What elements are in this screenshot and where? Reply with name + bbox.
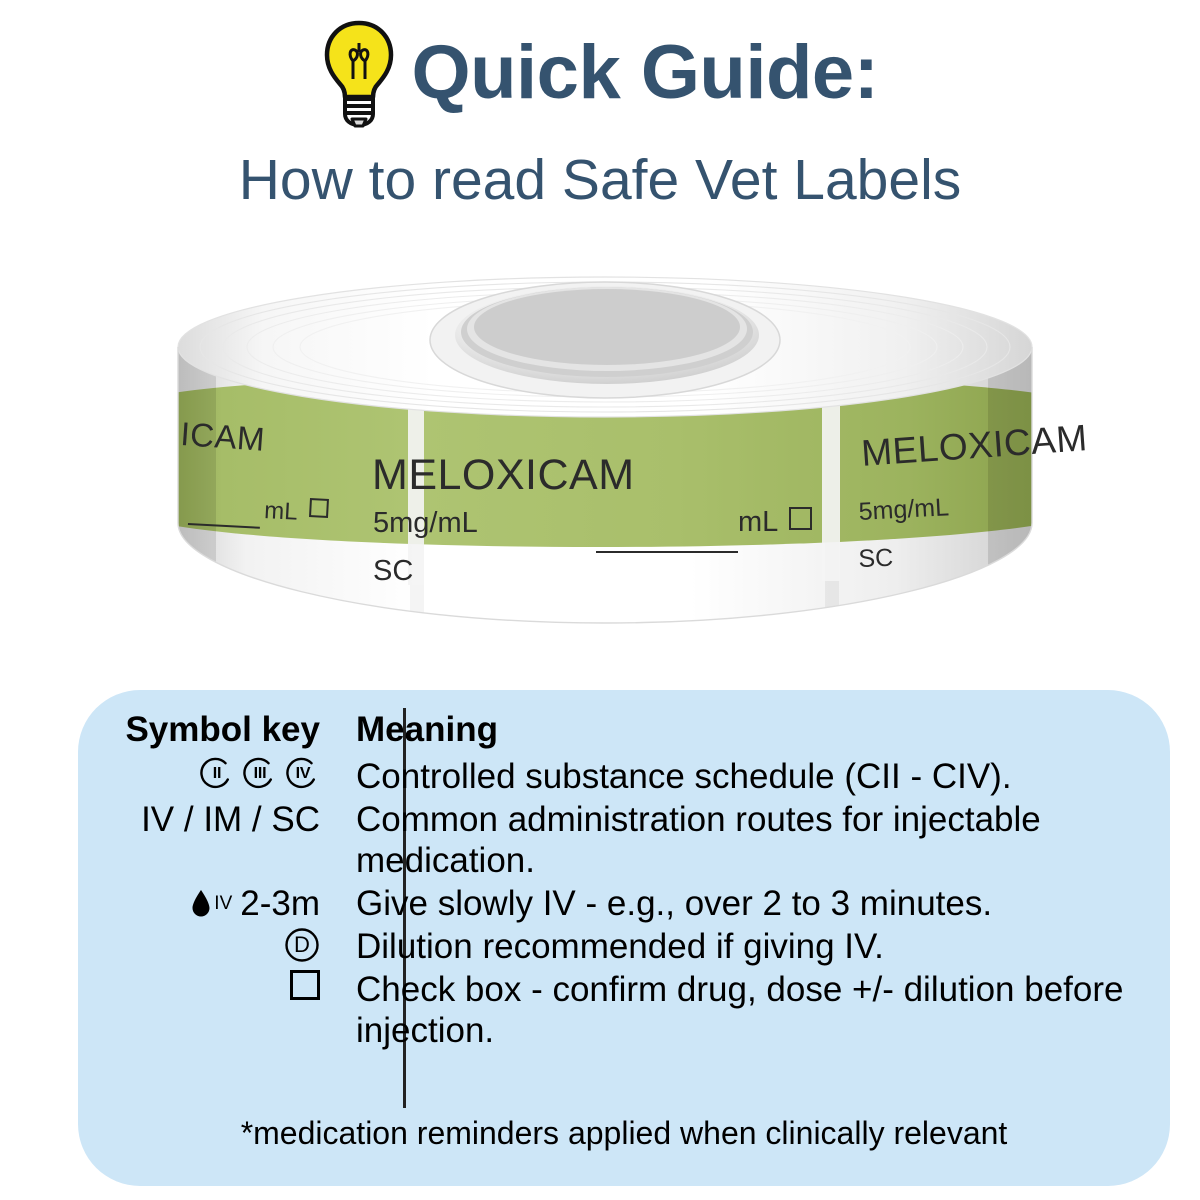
droplet-icon bbox=[191, 889, 211, 917]
meaning-text: Controlled substance schedule (CII - CIV… bbox=[336, 757, 1150, 798]
label-checkbox-left bbox=[309, 498, 329, 518]
meaning-text: Give slowly IV - e.g., over 2 to 3 minut… bbox=[336, 884, 1150, 925]
quick-guide-infographic: Quick Guide: How to read Safe Vet Labels bbox=[0, 0, 1200, 1200]
label-volume-unit: mL bbox=[738, 506, 778, 539]
header: Quick Guide: How to read Safe Vet Labels bbox=[0, 14, 1200, 209]
checkbox-symbol-cell bbox=[98, 970, 336, 1000]
meaning-text: Dilution recommended if giving IV. bbox=[336, 927, 1150, 968]
droplet-route-label: IV bbox=[214, 894, 232, 913]
table-row: D Dilution recommended if giving IV. bbox=[98, 927, 1150, 968]
meaning-text: Check box - confirm drug, dose +/- dilut… bbox=[336, 970, 1150, 1052]
footnote-text: *medication reminders applied when clini… bbox=[78, 1114, 1170, 1152]
schedule-c3-label: III bbox=[254, 766, 267, 782]
meaning-text: Common administration routes for injecta… bbox=[336, 800, 1150, 882]
page-title: Quick Guide: bbox=[412, 35, 879, 111]
label-roll-photo: MELOXICAM 5mg/mL SC mL MELOXICAM 5mg/mL … bbox=[170, 255, 1040, 655]
schedule-symbols-cell: II III IV bbox=[98, 757, 336, 791]
title-row: Quick Guide: bbox=[0, 14, 1200, 132]
droplet-time-label: 2-3m bbox=[240, 886, 320, 921]
symbol-key-table: Symbol key Meaning II bbox=[98, 710, 1150, 1052]
schedule-c3-icon: III bbox=[243, 757, 277, 791]
table-row: IV 2-3m Give slowly IV - e.g., over 2 to… bbox=[98, 884, 1150, 925]
label-concentration-right: 5mg/mL bbox=[858, 493, 950, 527]
symbol-key-header: Symbol key bbox=[98, 710, 336, 750]
label-route: SC bbox=[373, 555, 413, 588]
checkbox-icon bbox=[290, 970, 320, 1000]
schedule-c2-icon: II bbox=[200, 757, 234, 791]
table-row: II III IV bbox=[98, 757, 1150, 798]
label-checkbox bbox=[789, 507, 812, 530]
schedule-symbol-group: II III IV bbox=[200, 757, 320, 791]
table-row: Check box - confirm drug, dose +/- dilut… bbox=[98, 970, 1150, 1052]
meaning-header: Meaning bbox=[336, 710, 1150, 751]
symbol-key-panel: Symbol key Meaning II bbox=[78, 690, 1170, 1186]
dilution-letter: D bbox=[294, 934, 310, 956]
label-route-right: SC bbox=[858, 544, 894, 574]
routes-symbol-cell: IV / IM / SC bbox=[98, 800, 336, 841]
routes-label: IV / IM / SC bbox=[141, 800, 320, 841]
label-drug-name: MELOXICAM bbox=[372, 451, 635, 500]
schedule-c2-label: II bbox=[213, 766, 222, 782]
label-write-in-line bbox=[596, 551, 738, 553]
table-header-row: Symbol key Meaning bbox=[98, 710, 1150, 751]
circled-d-icon: D bbox=[284, 927, 320, 963]
page-subtitle: How to read Safe Vet Labels bbox=[0, 152, 1200, 209]
table-row: IV / IM / SC Common administration route… bbox=[98, 800, 1150, 882]
label-drug-name-left: ICAM bbox=[179, 415, 266, 459]
slow-push-symbol-cell: IV 2-3m bbox=[98, 884, 336, 921]
schedule-c4-icon: IV bbox=[286, 757, 320, 791]
label-concentration: 5mg/mL bbox=[373, 507, 478, 540]
lightbulb-icon bbox=[322, 19, 396, 131]
droplet-time-group: IV 2-3m bbox=[191, 886, 320, 921]
dilution-symbol-cell: D bbox=[98, 927, 336, 963]
label-volume-unit-left: mL bbox=[264, 497, 299, 527]
schedule-c4-label: IV bbox=[296, 766, 311, 782]
